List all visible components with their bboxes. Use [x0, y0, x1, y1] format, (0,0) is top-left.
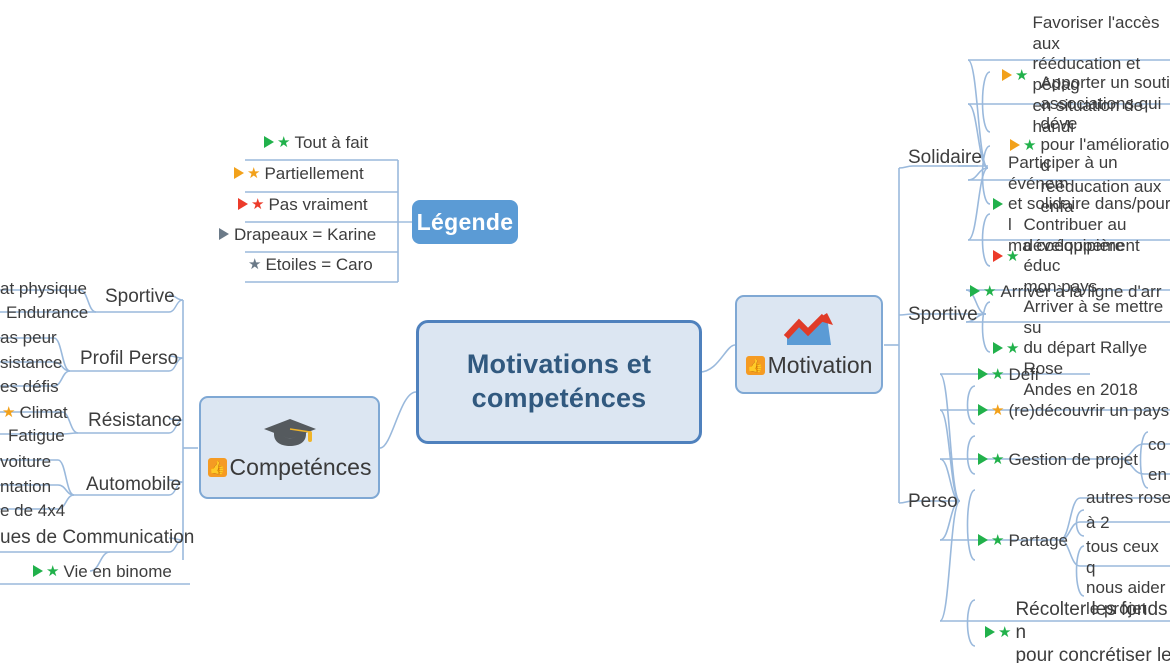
- subleaf-line: nous aider: [1086, 578, 1170, 599]
- group-resistance[interactable]: Résistance: [88, 409, 182, 433]
- leaf-line: Apporter un soutien: [1040, 73, 1170, 94]
- flag-icon: [1010, 139, 1021, 152]
- leaf-label: Endurance: [6, 302, 88, 323]
- mindmap-canvas: Motivations et competénces Competénces M…: [0, 0, 1170, 663]
- legend-item-4[interactable]: Etoiles = Caro: [248, 254, 373, 275]
- root-node[interactable]: Motivations et competénces: [416, 320, 702, 444]
- leaf-label: (re)découvrir un pays: [1008, 400, 1169, 421]
- legend-item-0[interactable]: Tout à fait: [264, 132, 368, 153]
- leaf-label: Climat: [19, 402, 67, 423]
- group-sportive-left[interactable]: Sportive: [105, 285, 175, 309]
- branch-motivation[interactable]: Motivation: [735, 295, 883, 394]
- chart-growth-icon: [783, 311, 835, 349]
- leaf-marks: [993, 198, 1004, 211]
- leaf-line: Andes en 2018: [1023, 380, 1170, 401]
- leaf-marks: [978, 367, 1004, 382]
- leaf-marks: [985, 625, 1011, 640]
- legend-title-label: Légende: [417, 208, 514, 237]
- thumbs-up-icon: [746, 356, 765, 375]
- flag-icon: [978, 404, 989, 417]
- leaf-marks: [978, 533, 1004, 548]
- leaf-redecouvrir-pays[interactable]: (re)découvrir un pays: [978, 400, 1169, 421]
- leaf-marks: [2, 405, 15, 420]
- leaf-line: du départ Rallye Rose: [1023, 338, 1170, 379]
- leaf-voiture[interactable]: voiture: [0, 451, 51, 472]
- leaf-es-defis[interactable]: es défis: [0, 376, 59, 397]
- leaf-fatigue[interactable]: Fatigue: [8, 425, 65, 446]
- group-label: Profil Perso: [80, 347, 178, 371]
- flag-icon: [985, 626, 996, 639]
- leaf-label: Partage: [1008, 530, 1068, 551]
- branch-motivation-label: Motivation: [768, 351, 873, 380]
- group-label: Automobile: [86, 473, 181, 497]
- leaf-ntation[interactable]: ntation: [0, 476, 51, 497]
- star-icon: [247, 166, 260, 181]
- legend-item-label: Tout à fait: [294, 132, 368, 153]
- flag-icon: [238, 198, 249, 211]
- leaf-label: e de 4x4: [0, 500, 65, 521]
- group-label: Sportive: [908, 303, 978, 327]
- star-icon: [277, 135, 290, 150]
- flag-icon: [219, 228, 230, 241]
- subleaf-label: autres rose: [1086, 487, 1170, 508]
- branch-motivation-label-row: Motivation: [746, 351, 873, 380]
- group-solidaire[interactable]: Solidaire: [908, 146, 982, 170]
- star-icon: [991, 452, 1004, 467]
- legend-title[interactable]: Légende: [412, 200, 518, 244]
- leaf-line: Arriver à se mettre su: [1023, 297, 1170, 338]
- group-communication[interactable]: ues de Communication: [0, 526, 194, 550]
- leaf-marks: [978, 403, 1004, 418]
- legend-marks-3: [219, 228, 230, 241]
- leaf-gestion-de-projet[interactable]: Gestion de projet: [978, 449, 1138, 470]
- leaf-marks: [993, 249, 1019, 264]
- leaf-label: voiture: [0, 451, 51, 472]
- legend-item-label: Pas vraiment: [268, 194, 367, 215]
- leaf-vie-en-binome[interactable]: Vie en binome: [33, 561, 172, 582]
- group-label: Solidaire: [908, 146, 982, 170]
- star-icon: [998, 625, 1011, 640]
- root-title-line2: competénces: [467, 382, 651, 416]
- star-icon: [2, 405, 15, 420]
- leaf-marks: [1010, 138, 1036, 153]
- star-icon: [248, 257, 261, 272]
- group-label: Sportive: [105, 285, 175, 309]
- leaf-label: Gestion de projet: [1008, 449, 1137, 470]
- legend-item-label: Etoiles = Caro: [265, 254, 372, 275]
- star-icon: [991, 367, 1004, 382]
- leaf-line: Contribuer au: [1023, 215, 1170, 236]
- star-icon: [991, 403, 1004, 418]
- group-label: Perso: [908, 490, 958, 514]
- leaf-label: Vie en binome: [63, 561, 171, 582]
- leaf-line: développement éduc: [1023, 236, 1170, 277]
- flag-icon: [33, 565, 44, 578]
- leaf-4x4[interactable]: e de 4x4: [0, 500, 65, 521]
- flag-icon: [970, 285, 981, 298]
- graduation-cap-icon: [262, 415, 318, 451]
- subleaf-line: tous ceux q: [1086, 537, 1170, 578]
- leaf-label: as peur: [0, 327, 57, 348]
- subleaf-label: en: [1148, 464, 1167, 485]
- leaf-line: Récolter les fonds n: [1015, 598, 1170, 644]
- leaf-label: Défi: [1008, 364, 1038, 385]
- legend-marks-4: [248, 257, 261, 272]
- leaf-line: Participer à un événem: [1008, 153, 1170, 194]
- leaf-as-peur[interactable]: as peur: [0, 327, 57, 348]
- leaf-sistance[interactable]: sistance: [0, 352, 62, 373]
- leaf-text-block: Arriver à se mettre su du départ Rallye …: [1023, 297, 1170, 401]
- star-icon: [1006, 249, 1019, 264]
- star-icon: [46, 564, 59, 579]
- flag-icon: [234, 167, 245, 180]
- flag-icon: [993, 342, 1004, 355]
- group-perso[interactable]: Perso: [908, 490, 958, 514]
- flag-icon: [993, 250, 1004, 263]
- leaf-marks: [33, 564, 59, 579]
- flag-icon: [978, 453, 989, 466]
- leaf-marks: [993, 341, 1019, 356]
- group-label: ues de Communication: [0, 526, 194, 550]
- leaf-partage[interactable]: Partage: [978, 530, 1068, 551]
- leaf-label: Fatigue: [8, 425, 65, 446]
- leaf-label: es défis: [0, 376, 59, 397]
- legend-item-2[interactable]: Pas vraiment: [238, 194, 368, 215]
- leaf-defi[interactable]: Défi: [978, 364, 1039, 385]
- legend-marks-1: [234, 166, 260, 181]
- thumbs-up-icon: [208, 458, 227, 477]
- legend-item-label: Partiellement: [264, 163, 363, 184]
- leaf-line: associations qui déve: [1040, 94, 1170, 135]
- leaf-climat[interactable]: Climat: [2, 402, 68, 423]
- subleaf-label: à 2: [1086, 512, 1110, 533]
- leaf-recolter-fonds[interactable]: Récolter les fonds n pour concrétiser le: [985, 598, 1170, 663]
- subleaf-label: co: [1148, 434, 1166, 455]
- leaf-label: at physique: [0, 278, 87, 299]
- root-title-line1: Motivations et: [467, 348, 651, 382]
- group-profil-perso[interactable]: Profil Perso: [80, 347, 178, 371]
- leaf-line: Favoriser l'accès aux: [1032, 13, 1170, 54]
- star-icon: [1006, 341, 1019, 356]
- subleaf-gestion-co[interactable]: co: [1148, 434, 1166, 455]
- legend-item-1[interactable]: Partiellement: [234, 163, 364, 184]
- legend-marks-0: [264, 135, 290, 150]
- leaf-text-block: Récolter les fonds n pour concrétiser le: [1015, 598, 1170, 663]
- flag-icon: [993, 198, 1004, 211]
- flag-icon: [978, 534, 989, 547]
- star-icon: [1023, 138, 1036, 153]
- group-label: Résistance: [88, 409, 182, 433]
- group-automobile[interactable]: Automobile: [86, 473, 181, 497]
- leaf-line: pour concrétiser le: [1015, 644, 1170, 663]
- leaf-at-physique[interactable]: at physique: [0, 278, 87, 299]
- legend-item-3[interactable]: Drapeaux = Karine: [219, 224, 376, 245]
- leaf-marks: [978, 452, 1004, 467]
- star-icon: [251, 197, 264, 212]
- branch-competences-label-row: Competénces: [208, 453, 372, 482]
- leaf-label: ntation: [0, 476, 51, 497]
- star-icon: [991, 533, 1004, 548]
- legend-marks-2: [238, 197, 264, 212]
- leaf-label: sistance: [0, 352, 62, 373]
- group-sportive-right[interactable]: Sportive: [908, 303, 978, 327]
- branch-competences[interactable]: Competénces: [199, 396, 380, 499]
- subleaf-gestion-en[interactable]: en: [1148, 464, 1167, 485]
- branch-competences-label: Competénces: [230, 453, 372, 482]
- flag-icon: [264, 136, 275, 149]
- leaf-endurance[interactable]: Endurance: [6, 302, 88, 323]
- subleaf-a-2[interactable]: à 2: [1086, 512, 1110, 533]
- subleaf-autres-roses[interactable]: autres rose: [1086, 487, 1170, 508]
- legend-item-label: Drapeaux = Karine: [234, 224, 376, 245]
- flag-icon: [978, 368, 989, 381]
